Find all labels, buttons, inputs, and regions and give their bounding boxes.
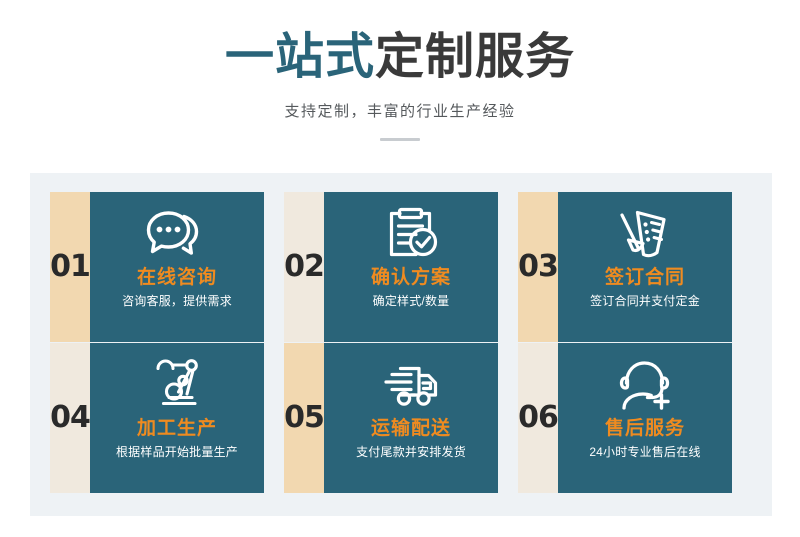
step-title: 售后服务 — [605, 417, 685, 441]
step-title: 确认方案 — [371, 266, 451, 290]
step-card-05[interactable]: 05 — [284, 343, 518, 493]
step-card-06[interactable]: 06 — [518, 343, 752, 493]
header-divider-rule — [380, 138, 420, 141]
step-number-strip: 01 — [50, 192, 90, 342]
page-title-rest: 定制服务 — [375, 30, 575, 84]
step-subtitle: 确定样式/数量 — [373, 293, 450, 309]
step-number-strip: 02 — [284, 192, 324, 342]
steps-panel: 01 — [30, 173, 772, 516]
step-card-04[interactable]: 04 — [50, 343, 284, 493]
page-subtitle: 支持定制，丰富的行业生产经验 — [0, 86, 800, 121]
step-subtitle: 24小时专业售后在线 — [589, 444, 700, 460]
step-number-strip: 05 — [284, 343, 324, 493]
step-subtitle: 支付尾款并安排发货 — [356, 444, 466, 460]
delivery-truck-icon — [378, 356, 444, 414]
page-title: 一站式定制服务 — [0, 0, 800, 86]
step-number-strip: 04 — [50, 343, 90, 493]
step-number: 03 — [518, 252, 558, 282]
steps-grid: 01 — [50, 192, 752, 493]
step-card-01[interactable]: 01 — [50, 192, 284, 342]
robot-arm-icon — [144, 356, 210, 414]
step-title: 加工生产 — [137, 417, 217, 441]
step-subtitle: 根据样品开始批量生产 — [116, 444, 238, 460]
step-number-strip: 06 — [518, 343, 558, 493]
step-number: 05 — [284, 403, 324, 433]
chat-bubbles-icon — [144, 205, 210, 263]
headset-support-icon — [612, 356, 678, 414]
step-card-02[interactable]: 02 — [284, 192, 518, 342]
page-title-accent: 一站式 — [225, 30, 375, 84]
step-number: 02 — [284, 252, 324, 282]
clipboard-check-icon — [378, 205, 444, 263]
step-card-03[interactable]: 03 — [518, 192, 752, 342]
step-number: 04 — [50, 403, 90, 433]
step-subtitle: 签订合同并支付定金 — [590, 293, 700, 309]
step-title: 运输配送 — [371, 417, 451, 441]
contract-pen-icon — [612, 205, 678, 263]
step-title: 签订合同 — [605, 266, 685, 290]
step-number: 01 — [50, 252, 90, 282]
step-subtitle: 咨询客服，提供需求 — [122, 293, 232, 309]
step-number: 06 — [518, 403, 558, 433]
step-number-strip: 03 — [518, 192, 558, 342]
step-title: 在线咨询 — [137, 266, 217, 290]
page-header: 一站式定制服务 支持定制，丰富的行业生产经验 — [0, 0, 800, 160]
